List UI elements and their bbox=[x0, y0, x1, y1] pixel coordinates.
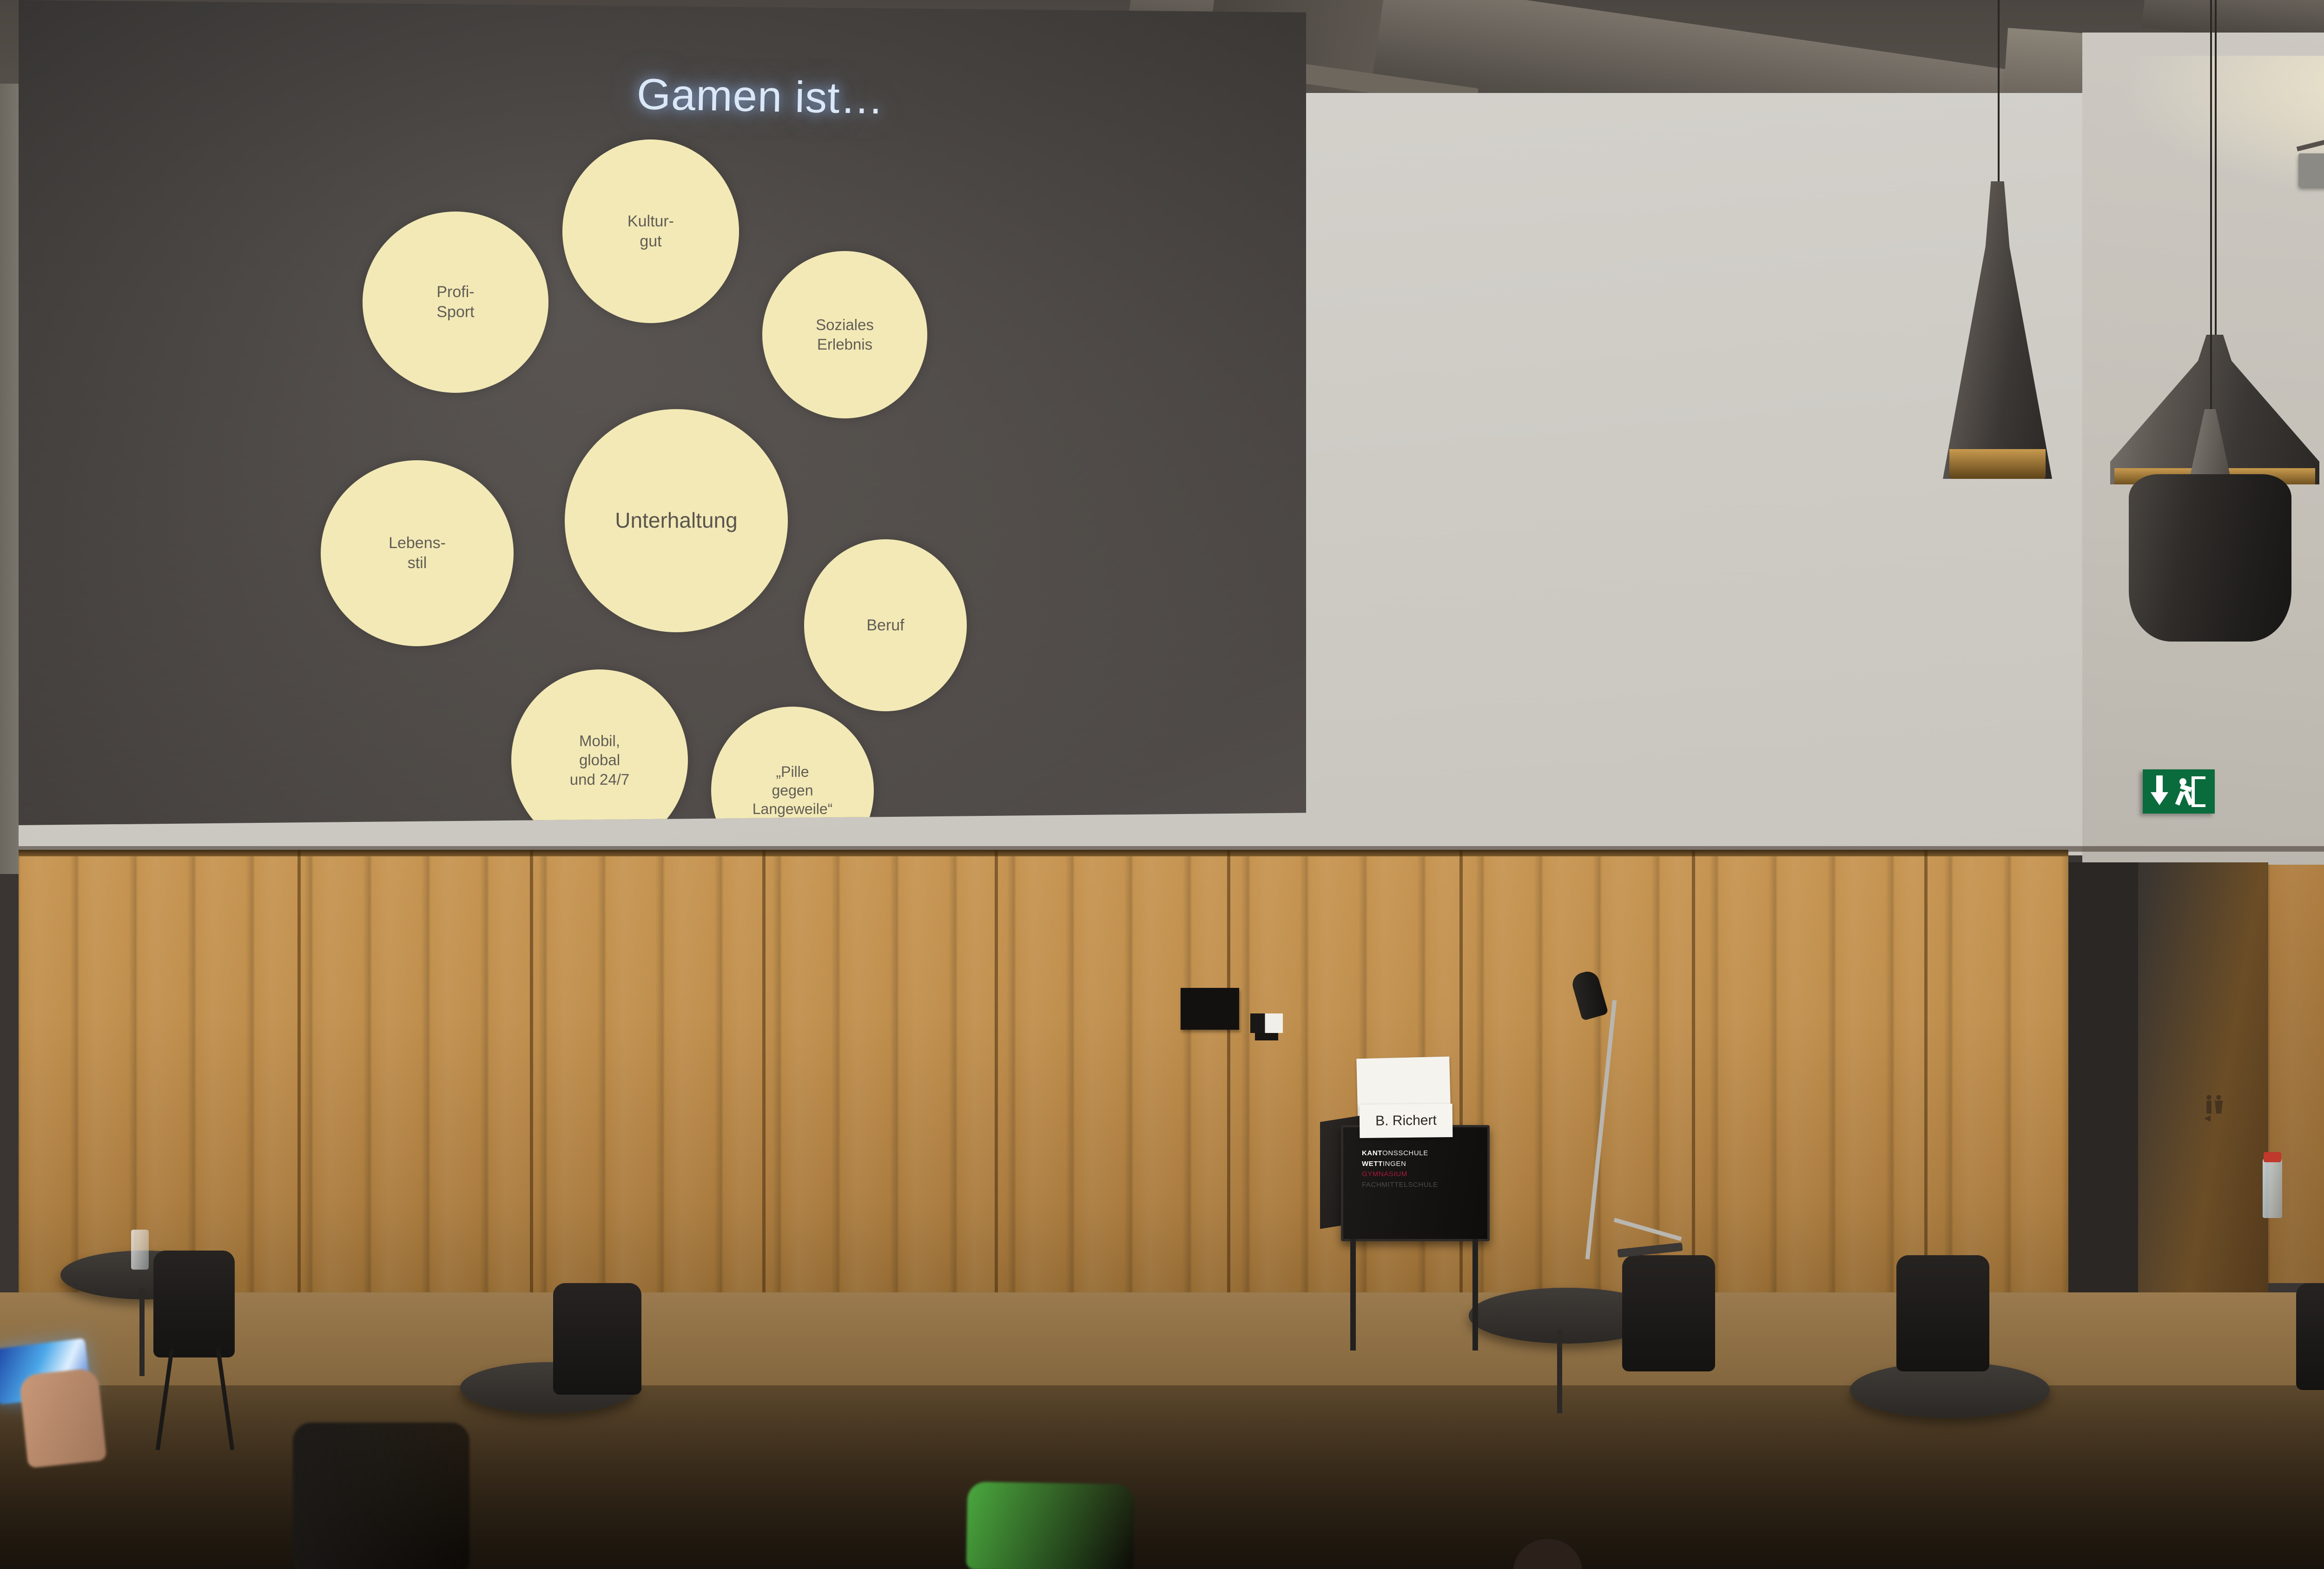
logo-gymnasium: GYMNASIUM bbox=[1362, 1169, 1473, 1180]
pendant-lamp-bowl bbox=[2129, 409, 2291, 642]
logo-ingen: INGEN bbox=[1383, 1160, 1406, 1168]
restroom-pictogram-icon bbox=[2201, 1092, 2233, 1125]
projected-slide: Gamen ist… Kultur-gutProfi-SportSoziales… bbox=[19, 0, 1306, 825]
slide-bubble-label: Mobil,globalund 24/7 bbox=[567, 731, 632, 789]
lecture-hall-photo: Gamen ist… Kultur-gutProfi-SportSoziales… bbox=[0, 0, 2324, 1569]
slide-bubble-profi-sport: Profi-Sport bbox=[363, 212, 548, 393]
lectern-school-logo: KANTONSSCHULE WETTINGEN GYMNASIUM FACHMI… bbox=[1362, 1148, 1473, 1190]
lamp-cord bbox=[2210, 0, 2212, 409]
slide-bubble-label: Kultur-gut bbox=[625, 212, 677, 252]
logo-wett: WETT bbox=[1362, 1160, 1383, 1168]
chair[interactable] bbox=[2296, 1283, 2324, 1390]
logo-onsschule: ONSSCHULE bbox=[1382, 1149, 1428, 1157]
chair[interactable] bbox=[1622, 1255, 1715, 1371]
exit-running-man-icon bbox=[2177, 775, 2205, 808]
lamp-cord bbox=[2215, 0, 2217, 335]
slide-bubble-lebensstil: Lebens-stil bbox=[321, 460, 514, 646]
wood-seam bbox=[1227, 850, 1230, 1319]
bright-green-garment bbox=[966, 1482, 1135, 1569]
slide-bubble-kulturgut: Kultur-gut bbox=[562, 139, 739, 323]
wood-seam bbox=[530, 850, 533, 1319]
drinking-glass bbox=[131, 1230, 149, 1270]
lectern-leg bbox=[1472, 1239, 1478, 1351]
wood-seam bbox=[297, 850, 301, 1319]
wall-mounted-panel bbox=[1181, 988, 1239, 1030]
hand-holding-phone bbox=[19, 1368, 107, 1469]
slide-bubble-beruf: Beruf bbox=[804, 539, 967, 711]
slide-bubble-label: Lebens-stil bbox=[386, 533, 449, 573]
wall-light-wash bbox=[2119, 56, 2324, 205]
logo-kant: KANT bbox=[1362, 1149, 1382, 1157]
emergency-exit-sign bbox=[2143, 769, 2215, 814]
slide-bubble-label: Beruf bbox=[864, 616, 907, 636]
table-leg bbox=[1557, 1330, 1562, 1413]
wood-seam bbox=[1692, 850, 1695, 1319]
wood-seam bbox=[762, 850, 766, 1319]
wood-seam bbox=[995, 850, 998, 1319]
wood-panel-top-trim bbox=[19, 850, 2068, 856]
chair[interactable] bbox=[153, 1251, 235, 1357]
slide-bubble-label: Unterhaltung bbox=[612, 507, 740, 534]
water-bottle bbox=[2263, 1158, 2282, 1218]
wall-mounted-box-shadow bbox=[1255, 1033, 1278, 1040]
pendant-lamp-cone-tall bbox=[1943, 181, 2052, 479]
lectern-leg bbox=[1350, 1239, 1356, 1351]
wood-seam bbox=[1924, 850, 1928, 1319]
exit-down-arrow-icon bbox=[2149, 775, 2170, 808]
logo-fachmittelschule: FACHMITTELSCHULE bbox=[1362, 1180, 1473, 1191]
wall-mounted-box bbox=[1250, 1013, 1283, 1033]
chair[interactable] bbox=[1896, 1255, 1989, 1371]
table-leg bbox=[139, 1288, 145, 1376]
wood-seam bbox=[1459, 850, 1463, 1319]
slide-title: Gamen ist… bbox=[636, 69, 963, 125]
water-bottle-cap bbox=[2264, 1152, 2281, 1162]
black-quilted-jacket bbox=[293, 1423, 469, 1569]
door-shadow bbox=[2068, 862, 2138, 1309]
chair[interactable] bbox=[553, 1283, 641, 1395]
lamp-cord bbox=[1998, 0, 2000, 181]
lectern-name-card: B. Richert bbox=[1360, 1104, 1453, 1138]
slide-bubble-soziales: SozialesErlebnis bbox=[762, 251, 927, 418]
ceiling-projector bbox=[2298, 153, 2324, 187]
wood-panel-wall bbox=[19, 850, 2068, 1319]
slide-bubble-label: SozialesErlebnis bbox=[813, 315, 877, 354]
slide-bubble-unterhaltung: Unterhaltung bbox=[565, 409, 788, 632]
slide-bubble-label: Profi-Sport bbox=[434, 282, 477, 322]
slide-bubble-label: „PillegegenLangeweile“ bbox=[750, 762, 836, 819]
wood-panel-right bbox=[2268, 865, 2324, 1283]
